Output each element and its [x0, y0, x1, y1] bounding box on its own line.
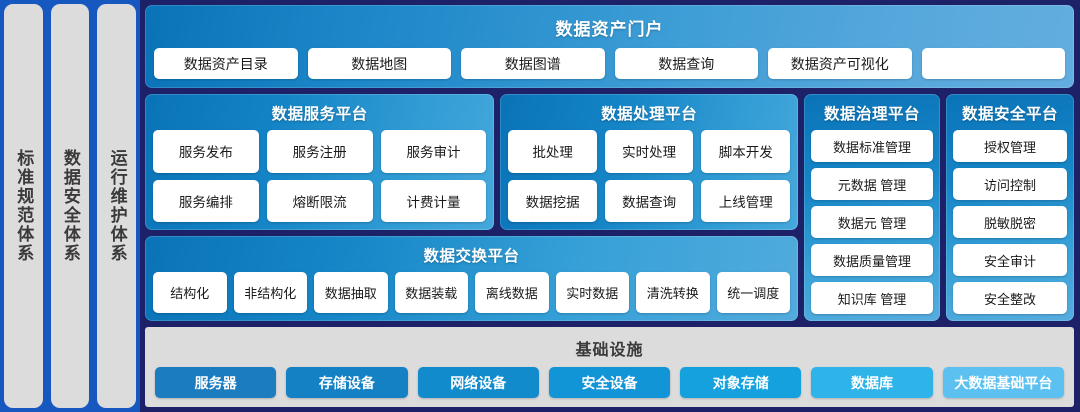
service-item-billing[interactable]: 计费计量 — [381, 180, 487, 223]
service-item-register[interactable]: 服务注册 — [267, 130, 373, 173]
service-item-orchestration[interactable]: 服务编排 — [153, 180, 259, 223]
security-item-desensitization[interactable]: 脱敏脱密 — [953, 206, 1067, 238]
security-item-authorization[interactable]: 授权管理 — [953, 130, 1067, 162]
pillar-operations[interactable]: 运行维护体系 — [97, 4, 136, 408]
middle-zone: 数据服务平台 服务发布 服务注册 服务审计 服务编排 熔断限流 计费计量 数据处… — [145, 94, 1074, 321]
infra-item-storage[interactable]: 存储设备 — [286, 367, 407, 398]
middle-left-column: 数据服务平台 服务发布 服务注册 服务审计 服务编排 熔断限流 计费计量 数据处… — [145, 94, 798, 321]
main-frame: 数据资产门户 数据资产目录 数据地图 数据图谱 数据查询 数据资产可视化 数据服… — [140, 0, 1080, 412]
exchange-item-unstructured[interactable]: 非结构化 — [234, 272, 308, 313]
exchange-item-structured[interactable]: 结构化 — [153, 272, 227, 313]
panel-title: 数据处理平台 — [508, 102, 790, 124]
infra-item-security-device[interactable]: 安全设备 — [549, 367, 670, 398]
process-item-mining[interactable]: 数据挖据 — [508, 180, 597, 223]
security-item-security-rectification[interactable]: 安全整改 — [953, 282, 1067, 314]
infra-item-server[interactable]: 服务器 — [155, 367, 276, 398]
infrastructure-title: 基础设施 — [155, 336, 1064, 360]
exchange-item-cleansing[interactable]: 清洗转换 — [636, 272, 710, 313]
process-item-query[interactable]: 数据查询 — [605, 180, 694, 223]
portal-title: 数据资产门户 — [154, 15, 1065, 40]
pillar-data-security[interactable]: 数据安全体系 — [51, 4, 90, 408]
exchange-item-extract[interactable]: 数据抽取 — [314, 272, 388, 313]
panel-item-column: 数据标准管理 元数据 管理 数据元 管理 数据质量管理 知识库 管理 — [811, 130, 933, 314]
process-item-release-mgmt[interactable]: 上线管理 — [701, 180, 790, 223]
panel-title: 数据安全平台 — [953, 102, 1067, 124]
governance-item-data-element[interactable]: 数据元 管理 — [811, 206, 933, 238]
middle-top-row: 数据服务平台 服务发布 服务注册 服务审计 服务编排 熔断限流 计费计量 数据处… — [145, 94, 798, 230]
service-item-audit[interactable]: 服务审计 — [381, 130, 487, 173]
panel-item-row: 结构化 非结构化 数据抽取 数据装载 离线数据 实时数据 清洗转换 统一调度 — [153, 272, 790, 313]
panel-title: 数据交换平台 — [153, 244, 790, 266]
portal-item-empty[interactable] — [922, 48, 1066, 79]
panel-item-grid: 服务发布 服务注册 服务审计 服务编排 熔断限流 计费计量 — [153, 130, 486, 222]
governance-item-knowledge-base[interactable]: 知识库 管理 — [811, 282, 933, 314]
panel-title: 数据服务平台 — [153, 102, 486, 124]
infra-item-bigdata-platform[interactable]: 大数据基础平台 — [943, 367, 1064, 398]
infra-item-database[interactable]: 数据库 — [811, 367, 932, 398]
portal-item-visualization[interactable]: 数据资产可视化 — [768, 48, 912, 79]
panel-data-processing-platform: 数据处理平台 批处理 实时处理 脚本开发 数据挖据 数据查询 上线管理 — [500, 94, 798, 230]
infrastructure-section: 基础设施 服务器 存储设备 网络设备 安全设备 对象存储 数据库 大数据基础平台 — [145, 327, 1074, 407]
infra-item-object-storage[interactable]: 对象存储 — [680, 367, 801, 398]
exchange-item-realtime-data[interactable]: 实时数据 — [556, 272, 630, 313]
portal-section: 数据资产门户 数据资产目录 数据地图 数据图谱 数据查询 数据资产可视化 — [145, 5, 1074, 88]
panel-item-grid: 批处理 实时处理 脚本开发 数据挖据 数据查询 上线管理 — [508, 130, 790, 222]
panel-item-column: 授权管理 访问控制 脱敏脱密 安全审计 安全整改 — [953, 130, 1067, 314]
portal-item-graph[interactable]: 数据图谱 — [461, 48, 605, 79]
architecture-diagram: 标准规范体系 数据安全体系 运行维护体系 数据资产门户 数据资产目录 数据地图 … — [0, 0, 1080, 412]
security-item-access-control[interactable]: 访问控制 — [953, 168, 1067, 200]
governance-item-metadata[interactable]: 元数据 管理 — [811, 168, 933, 200]
service-item-circuit-breaker[interactable]: 熔断限流 — [267, 180, 373, 223]
panel-title: 数据治理平台 — [811, 102, 933, 124]
portal-item-map[interactable]: 数据地图 — [308, 48, 452, 79]
infra-item-network[interactable]: 网络设备 — [418, 367, 539, 398]
process-item-batch[interactable]: 批处理 — [508, 130, 597, 173]
pillar-label: 标准规范体系 — [14, 149, 32, 263]
governance-item-data-quality[interactable]: 数据质量管理 — [811, 244, 933, 276]
process-item-realtime[interactable]: 实时处理 — [605, 130, 694, 173]
pillar-label: 数据安全体系 — [61, 149, 79, 263]
pillar-label: 运行维护体系 — [108, 149, 126, 263]
pillar-standards[interactable]: 标准规范体系 — [4, 4, 43, 408]
portal-item-query[interactable]: 数据查询 — [615, 48, 759, 79]
portal-item-catalog[interactable]: 数据资产目录 — [154, 48, 298, 79]
panel-data-security-platform: 数据安全平台 授权管理 访问控制 脱敏脱密 安全审计 安全整改 — [946, 94, 1074, 321]
panel-data-exchange-platform: 数据交换平台 结构化 非结构化 数据抽取 数据装载 离线数据 实时数据 清洗转换… — [145, 236, 798, 321]
vertical-pillar-group: 标准规范体系 数据安全体系 运行维护体系 — [0, 0, 140, 412]
portal-item-list: 数据资产目录 数据地图 数据图谱 数据查询 数据资产可视化 — [154, 48, 1065, 79]
exchange-item-offline-data[interactable]: 离线数据 — [475, 272, 549, 313]
process-item-script-dev[interactable]: 脚本开发 — [701, 130, 790, 173]
service-item-publish[interactable]: 服务发布 — [153, 130, 259, 173]
panel-data-governance-platform: 数据治理平台 数据标准管理 元数据 管理 数据元 管理 数据质量管理 知识库 管… — [804, 94, 940, 321]
governance-item-data-standard[interactable]: 数据标准管理 — [811, 130, 933, 162]
security-item-security-audit[interactable]: 安全审计 — [953, 244, 1067, 276]
exchange-item-load[interactable]: 数据装载 — [395, 272, 469, 313]
exchange-item-scheduling[interactable]: 统一调度 — [717, 272, 791, 313]
panel-data-service-platform: 数据服务平台 服务发布 服务注册 服务审计 服务编排 熔断限流 计费计量 — [145, 94, 494, 230]
infrastructure-item-list: 服务器 存储设备 网络设备 安全设备 对象存储 数据库 大数据基础平台 — [155, 367, 1064, 398]
